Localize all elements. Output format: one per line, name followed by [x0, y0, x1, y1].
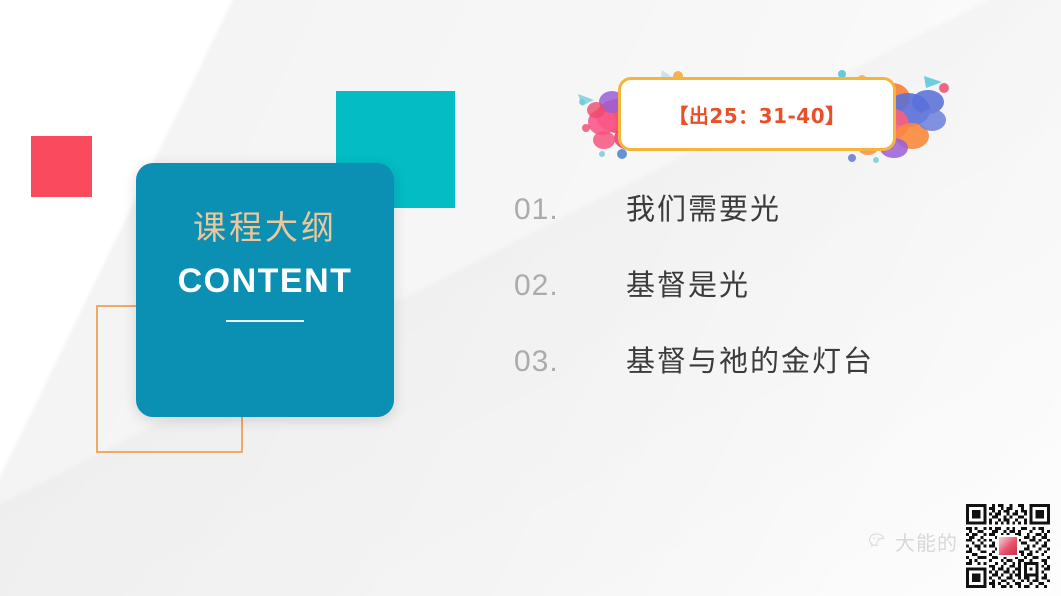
qr-code[interactable] [966, 504, 1050, 588]
wechat-account-name: 大能的 [895, 527, 958, 556]
scripture-reference-box: 【出25：31-40】 [618, 77, 896, 151]
outline-item-number: 03. [514, 345, 626, 379]
wechat-watermark: 大能的 [868, 527, 958, 556]
wechat-icon [868, 531, 890, 553]
outline-item-number: 01. [514, 193, 626, 227]
decorative-red-square [31, 136, 92, 197]
card-title-english: CONTENT [178, 264, 353, 298]
slide-canvas: 课程大纲 CONTENT [0, 0, 1061, 596]
outline-item-label: 基督与祂的金灯台 [626, 338, 874, 380]
scripture-reference-text: 【出25：31-40】 [668, 100, 845, 129]
qr-code-center-logo [997, 535, 1019, 557]
outline-item-label: 基督是光 [626, 262, 750, 304]
card-divider-rule [226, 320, 304, 322]
card-title-chinese: 课程大纲 [193, 211, 337, 244]
content-title-card: 课程大纲 CONTENT [136, 163, 394, 417]
outline-item[interactable]: 01. 我们需要光 [514, 186, 954, 262]
outline-item[interactable]: 02. 基督是光 [514, 262, 954, 338]
outline-list: 01. 我们需要光 02. 基督是光 03. 基督与祂的金灯台 [514, 186, 954, 414]
outline-item-label: 我们需要光 [626, 186, 781, 228]
outline-item[interactable]: 03. 基督与祂的金灯台 [514, 338, 954, 414]
scripture-reference-banner: 【出25：31-40】 [556, 58, 956, 170]
outline-item-number: 02. [514, 269, 626, 303]
